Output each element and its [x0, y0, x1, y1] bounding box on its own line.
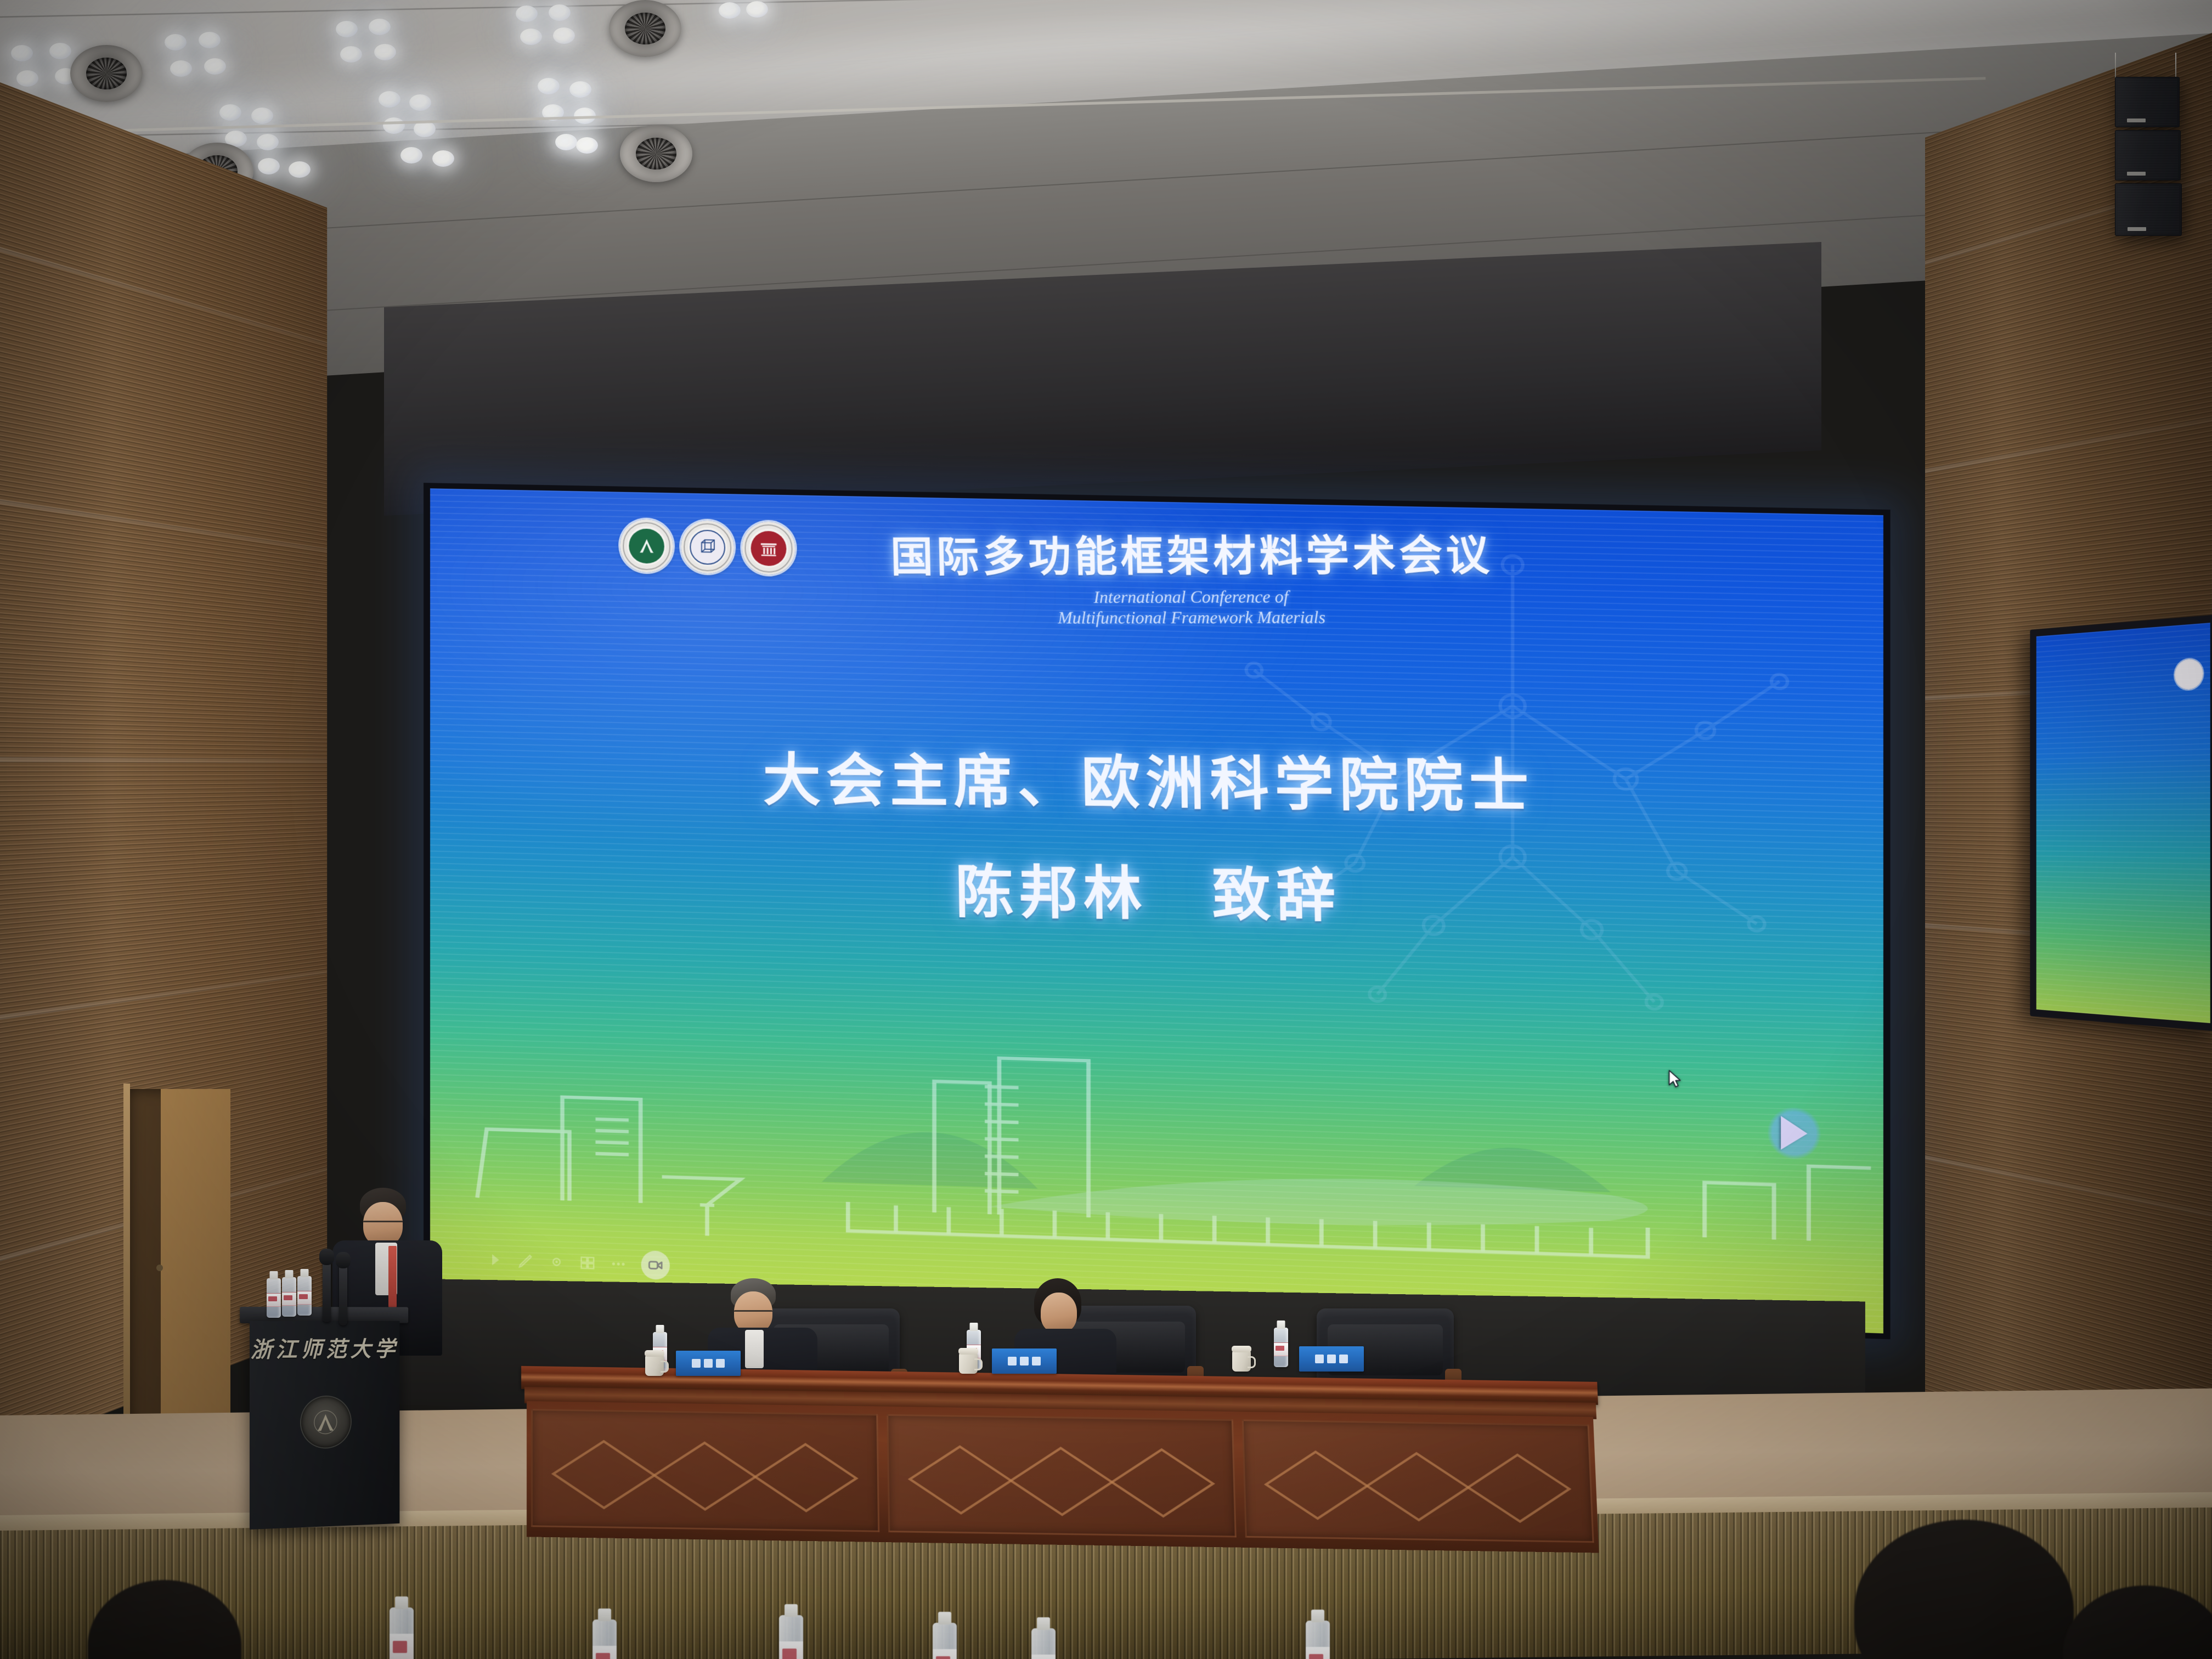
conference-title-block: 国际多功能框架材料学术会议 International Conference o…: [742, 520, 1646, 628]
conference-title-chinese: 国际多功能框架材料学术会议: [742, 520, 1645, 584]
recessed-downlight: [257, 134, 279, 150]
recessed-downlight: [170, 60, 192, 77]
table-panel: [1242, 1419, 1594, 1543]
recessed-downlight: [16, 70, 38, 87]
ceiling-air-diffuser: [70, 45, 143, 102]
slide-grid-icon[interactable]: [579, 1255, 596, 1272]
podium-microphone: [323, 1257, 331, 1322]
video-play-button[interactable]: [1768, 1106, 1821, 1159]
record-video-icon[interactable]: [641, 1250, 670, 1280]
recessed-downlight: [199, 32, 221, 48]
water-bottle: [1306, 1621, 1330, 1659]
recessed-downlight: [49, 43, 71, 59]
recessed-downlight: [538, 78, 560, 94]
recessed-downlight: [251, 108, 273, 124]
led-projection-screen: 国际多功能框架材料学术会议 International Conference o…: [424, 483, 1891, 1339]
door-handle-icon[interactable]: [156, 1265, 163, 1271]
recessed-downlight: [549, 4, 571, 21]
recessed-downlight: [336, 21, 358, 37]
recessed-downlight: [520, 29, 542, 45]
nameplate-left: [676, 1351, 741, 1376]
recessed-downlight: [289, 161, 311, 178]
podium-institution-name: 浙江师范大学: [250, 1331, 399, 1364]
presenter-toolbar[interactable]: [487, 1245, 670, 1280]
recessed-downlight: [11, 45, 33, 61]
recessed-downlight: [719, 2, 741, 19]
door-frame: [123, 1084, 130, 1446]
recessed-downlight: [409, 94, 431, 111]
water-bottle: [1274, 1328, 1288, 1367]
slide-body-text: 大会主席、欧洲科学院院士 陈邦林 致辞: [542, 731, 1765, 938]
water-bottle: [267, 1278, 281, 1318]
secondary-monitor: [2030, 614, 2212, 1031]
podium-microphone: [339, 1261, 347, 1325]
conference-title-english-line1: International Conference of: [743, 585, 1646, 608]
water-bottle: [1031, 1628, 1056, 1659]
recessed-downlight: [258, 158, 280, 174]
recessed-downlight: [219, 104, 241, 121]
zhejiang-normal-university-emblem: [301, 1396, 350, 1448]
slide-line-role: 大会主席、欧洲科学院院士: [542, 731, 1764, 826]
ceiling-air-diffuser: [620, 125, 692, 182]
ceramic-mug: [1232, 1351, 1251, 1372]
auditorium-scene: 国际多功能框架材料学术会议 International Conference o…: [0, 0, 2212, 1659]
conference-title-english-line2: Multifunctional Framework Materials: [744, 606, 1646, 629]
water-bottle: [779, 1615, 803, 1659]
slide-canvas: 国际多功能框架材料学术会议 International Conference o…: [430, 488, 1883, 1333]
recessed-downlight: [369, 19, 391, 35]
recessed-downlight: [555, 134, 577, 150]
stage-side-door[interactable]: [129, 1089, 230, 1440]
table-panel: [531, 1409, 879, 1532]
recessed-downlight: [204, 58, 226, 75]
recessed-downlight: [553, 27, 575, 44]
line-array-speaker: [2115, 77, 2182, 236]
recessed-downlight: [165, 34, 187, 50]
more-options-icon[interactable]: [610, 1256, 627, 1273]
water-bottle: [297, 1276, 312, 1316]
recessed-downlight: [746, 1, 768, 18]
head-table: [527, 1366, 1599, 1553]
recessed-downlight: [569, 81, 591, 98]
zhejiang-normal-university-logo: [620, 519, 673, 573]
recessed-downlight: [516, 5, 538, 22]
water-bottle: [282, 1277, 296, 1317]
next-slide-icon[interactable]: [487, 1251, 503, 1268]
secondary-monitor-logo: [2175, 658, 2203, 690]
ceramic-mug: [959, 1353, 978, 1374]
pen-icon[interactable]: [517, 1252, 534, 1269]
lectern-podium: 浙江师范大学: [250, 1317, 399, 1528]
recessed-downlight: [400, 147, 422, 163]
nameplate-center: [1299, 1346, 1364, 1372]
recessed-downlight: [576, 137, 598, 154]
laser-pointer-icon[interactable]: [548, 1254, 565, 1271]
recessed-downlight: [383, 117, 405, 134]
lanyard-name-badge: [388, 1246, 397, 1307]
water-bottle: [933, 1623, 957, 1659]
recessed-downlight: [374, 44, 396, 60]
ceramic-mug: [645, 1355, 664, 1376]
recessed-downlight: [379, 91, 400, 108]
water-bottle: [390, 1607, 414, 1659]
recessed-downlight: [340, 46, 362, 63]
nameplate-right: [992, 1348, 1057, 1374]
campus-skyline-illustration: [430, 950, 1883, 1284]
table-panel: [887, 1414, 1237, 1538]
jiangsu-normal-university-logo: [681, 520, 734, 574]
recessed-downlight: [432, 150, 454, 167]
slide-line-speaker: 陈邦林 致辞: [544, 840, 1765, 937]
mouse-cursor: [1668, 1069, 1683, 1089]
water-bottle: [592, 1620, 617, 1659]
ceiling-air-diffuser: [609, 0, 681, 57]
